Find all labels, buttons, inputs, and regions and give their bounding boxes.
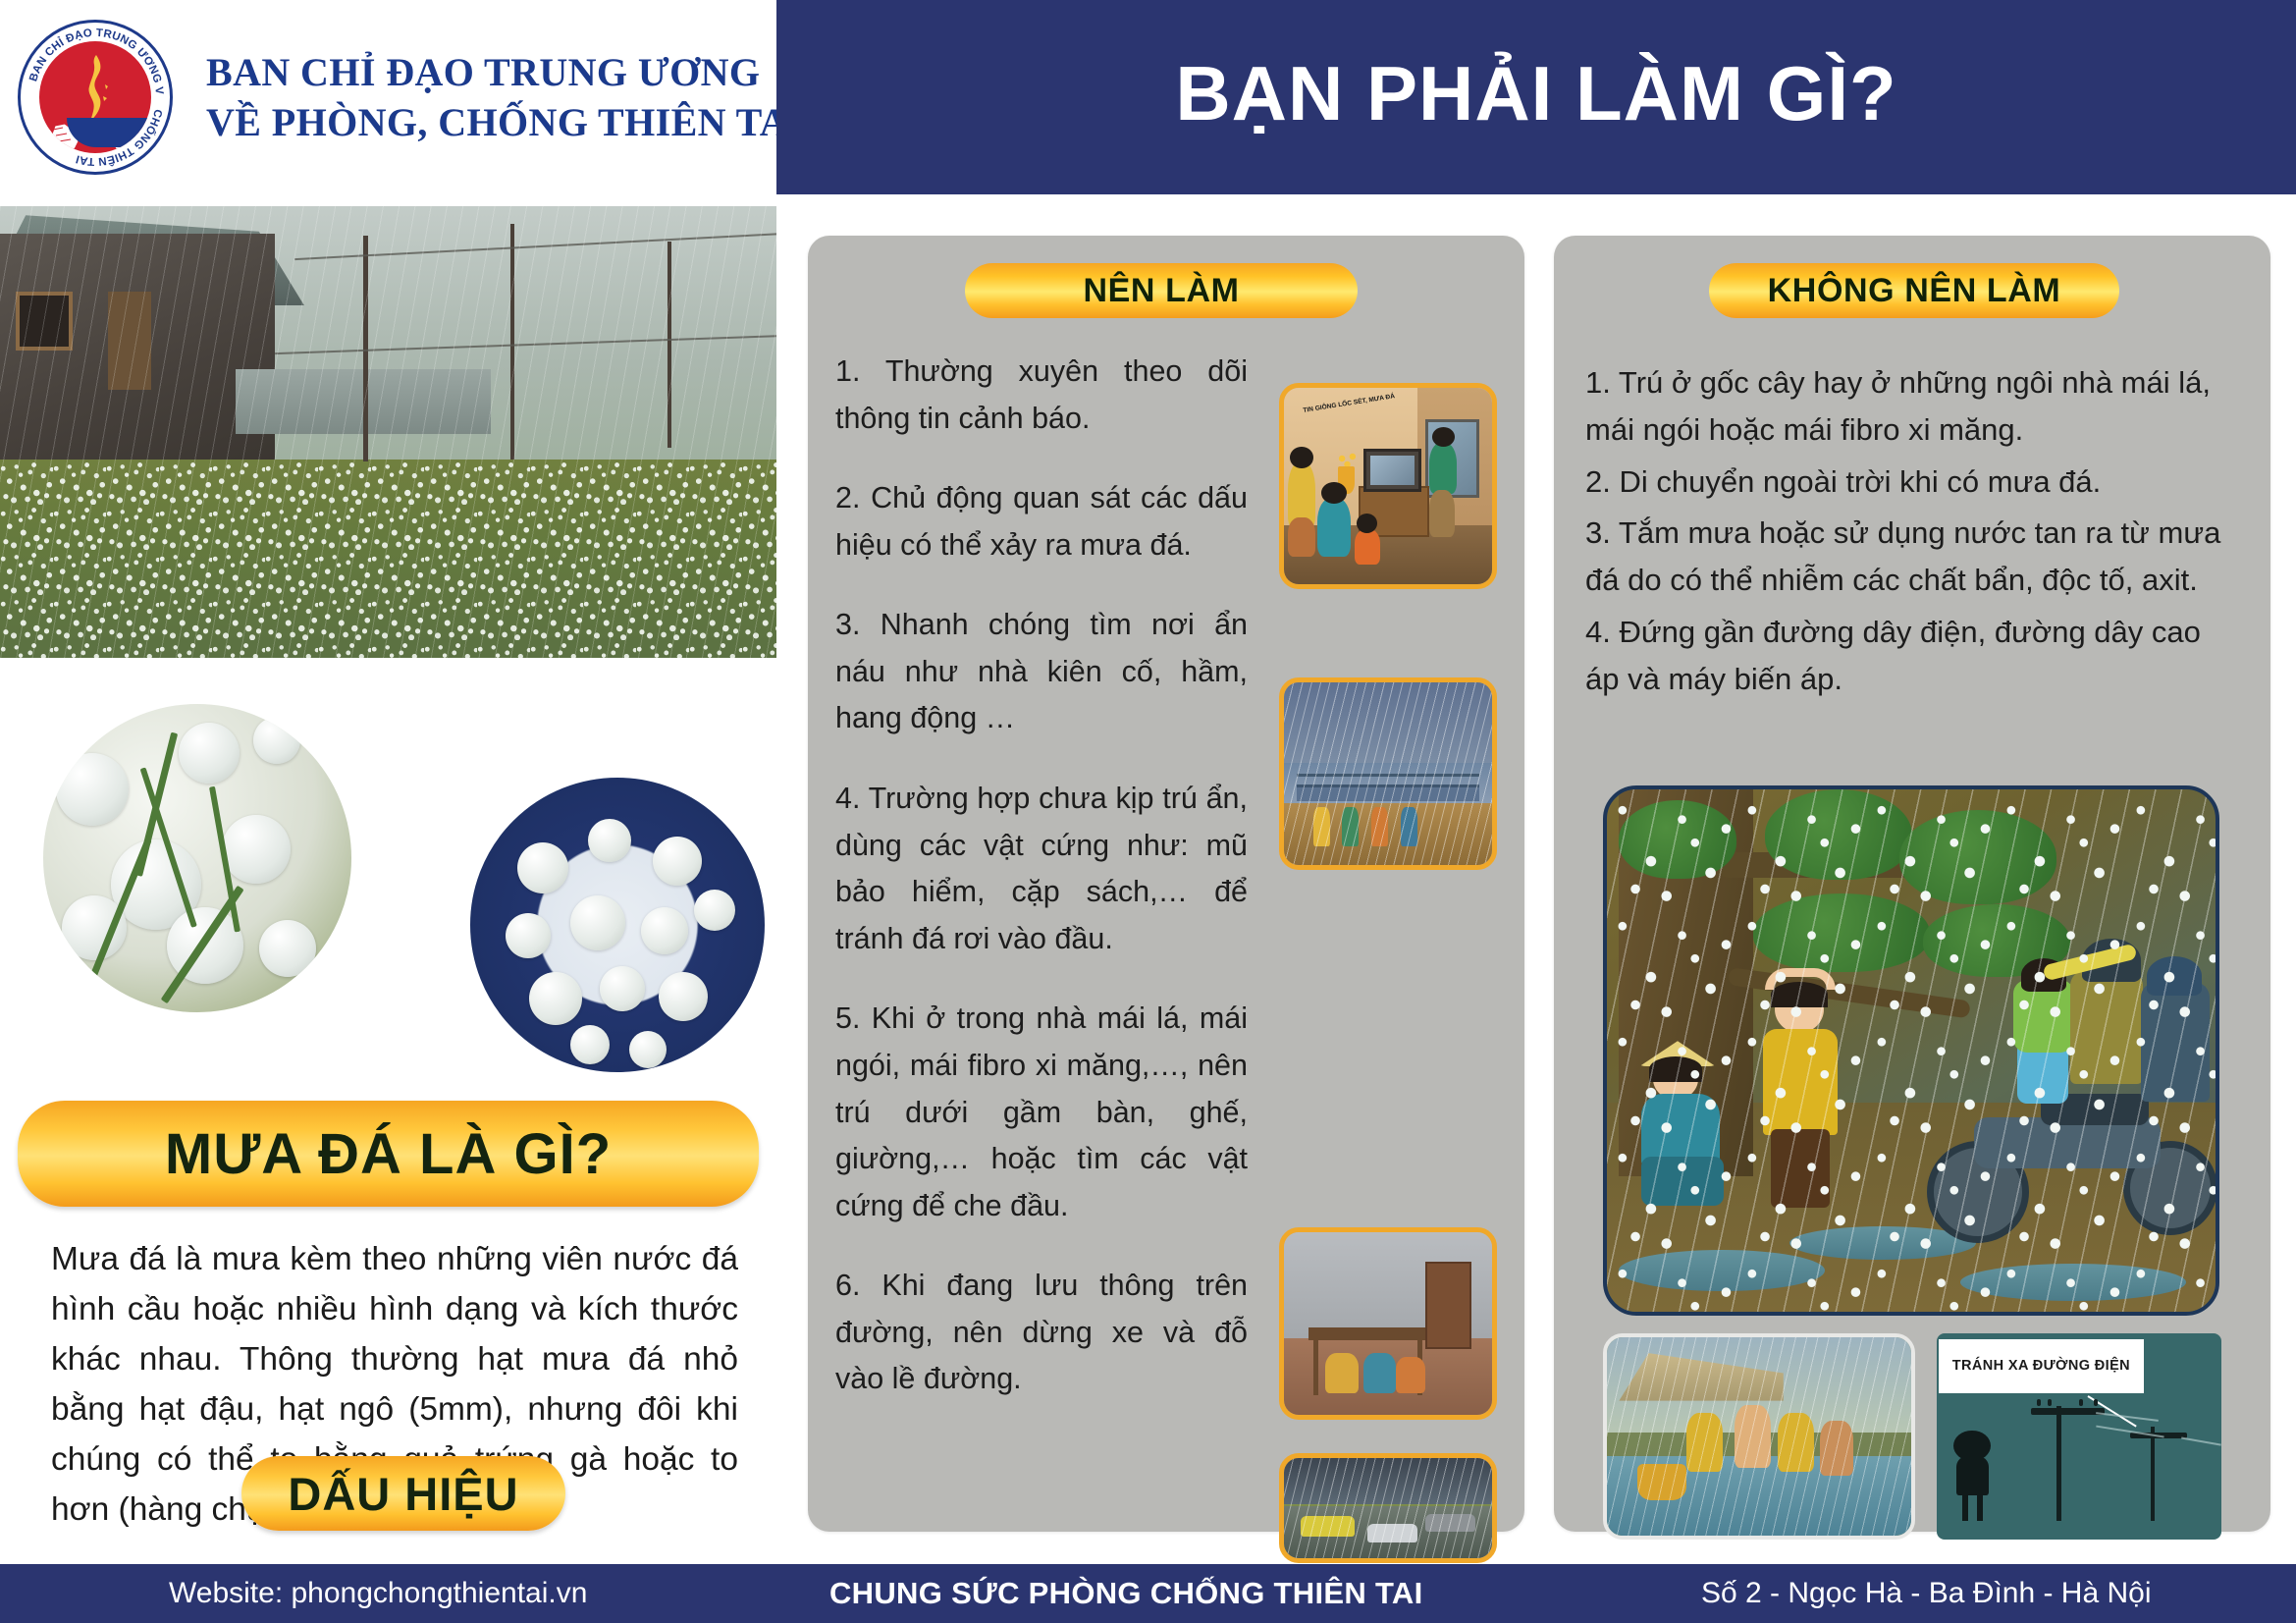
hailstone-cluster <box>43 704 351 1012</box>
scene-door <box>1425 1262 1471 1349</box>
scene-child-orange <box>1355 529 1379 565</box>
scene-child <box>1363 1353 1397 1393</box>
hail-field-photo <box>0 206 776 658</box>
list-item: 3. Tắm mưa hoặc sử dụng nước tan ra từ m… <box>1585 510 2233 605</box>
scene-person-head <box>1953 1431 1991 1461</box>
organization-title-line2: VỀ PHÒNG, CHỐNG THIÊN TAI <box>206 97 804 147</box>
logo-red-disc <box>39 41 151 153</box>
photo-rain-streaks <box>0 206 776 658</box>
scene-rain-streaks <box>1284 682 1492 865</box>
scene-insulator <box>2048 1399 2052 1406</box>
scene-girl-head <box>1321 482 1346 504</box>
avoid-power-lines-sign: TRÁNH XA ĐƯỜNG ĐIỆN <box>1939 1339 2144 1393</box>
scene-tv-screen <box>1370 456 1415 485</box>
list-item: 2. Chủ động quan sát các dấu hiệu có thể… <box>835 475 1248 568</box>
header-branding: BAN CHỈ ĐẠO TRUNG ƯƠNG VỀ PHÒNG CHỐNG TH… <box>0 0 776 194</box>
scene-table-top <box>1308 1327 1425 1340</box>
scene-power-pole <box>2056 1406 2061 1522</box>
what-is-hail-badge: MƯA ĐÁ LÀ GÌ? <box>18 1101 759 1207</box>
scene-rain-streaks <box>1284 1458 1492 1558</box>
list-item: 5. Khi ở trong nhà mái lá, mái ngói, mái… <box>835 996 1248 1229</box>
scene-person-silhouette <box>1953 1431 1991 1521</box>
illustration-children-bathing-in-hail-rain <box>1603 1333 1915 1540</box>
scene-table-leg <box>1313 1340 1318 1395</box>
hailstone-cluster <box>470 778 765 1072</box>
signs-badge: DẤU HIỆU <box>241 1456 565 1531</box>
footer-address: Số 2 - Ngọc Hà - Ba Đình - Hà Nội <box>1701 1577 2152 1610</box>
illustration-people-under-tree-and-motorbike-in-hail <box>1603 785 2219 1316</box>
illustration-children-hiding-under-table <box>1279 1227 1497 1420</box>
right-column: NÊN LÀM 1. Thường xuyên theo dõi thông t… <box>776 194 2296 1564</box>
scene-man-head <box>1432 427 1455 447</box>
page-title: BẠN PHẢI LÀM GÌ? <box>1175 49 1896 146</box>
scene-power-wire <box>2182 1437 2221 1446</box>
list-item: 4. Đứng gần đường dây điện, đường dây ca… <box>1585 609 2233 704</box>
list-item: 1. Thường xuyên theo dõi thông tin cảnh … <box>835 349 1248 442</box>
scene-child <box>1325 1353 1359 1393</box>
scene-television <box>1363 449 1421 492</box>
do-panel-pill: NÊN LÀM <box>965 263 1358 318</box>
footer-slogan: CHUNG SỨC PHÒNG CHỐNG THIÊN TAI <box>829 1576 1423 1611</box>
left-column: MƯA ĐÁ LÀ GÌ? Mưa đá là mưa kèm theo nhữ… <box>0 194 776 1564</box>
scene-woman-head <box>1290 447 1312 468</box>
illustration-people-sheltering-by-bridge <box>1279 677 1497 870</box>
scene-power-pole <box>2151 1427 2155 1522</box>
scene-insulator <box>2079 1399 2083 1406</box>
scene-man-green <box>1429 443 1457 494</box>
dont-panel-pill: KHÔNG NÊN LÀM <box>1709 263 2119 318</box>
scene-rain-streaks <box>1607 1337 1911 1536</box>
scene-child <box>1396 1357 1425 1393</box>
do-list: 1. Thường xuyên theo dõi thông tin cảnh … <box>835 349 1248 1403</box>
organization-title-line1: BAN CHỈ ĐẠO TRUNG ƯƠNG <box>206 47 804 97</box>
footer-website[interactable]: Website: phongchongthientai.vn <box>169 1577 587 1610</box>
list-item: 4. Trường hợp chưa kịp trú ẩn, dùng các … <box>835 776 1248 962</box>
scene-man-legs <box>1429 490 1454 537</box>
do-panel: NÊN LÀM 1. Thường xuyên theo dõi thông t… <box>808 236 1524 1532</box>
list-item: 6. Khi đang lưu thông trên đường, nên dừ… <box>835 1263 1248 1403</box>
scene-person-body <box>1956 1457 1989 1495</box>
illustration-cars-stopped-on-road <box>1279 1453 1497 1563</box>
dont-list: 1. Trú ở gốc cây hay ở những ngôi nhà má… <box>1585 359 2233 708</box>
list-item: 1. Trú ở gốc cây hay ở những ngôi nhà má… <box>1585 359 2233 455</box>
organization-title: BAN CHỈ ĐẠO TRUNG ƯƠNG VỀ PHÒNG, CHỐNG T… <box>206 47 804 147</box>
hailstones-in-basin-photo <box>456 764 778 1086</box>
organization-logo: BAN CHỈ ĐẠO TRUNG ƯƠNG VỀ PHÒNG CHỐNG TH… <box>18 20 173 175</box>
list-item: 2. Di chuyển ngoài trời khi có mưa đá. <box>1585 459 2233 506</box>
scene-insulator <box>2037 1399 2041 1406</box>
scene-falling-hailstones <box>1607 789 2216 1312</box>
header-title-banner: BẠN PHẢI LÀM GÌ? <box>776 0 2296 194</box>
scene-pole-crossarm <box>2031 1408 2105 1415</box>
illustration-family-watching-tv: TIN GIÔNG LỐC SÉT, MƯA ĐÁ <box>1279 383 1497 589</box>
scene-insulator <box>2094 1399 2098 1406</box>
scene-girl-teal <box>1317 498 1351 557</box>
illustration-avoid-power-lines: TRÁNH XA ĐƯỜNG ĐIỆN <box>1937 1333 2221 1540</box>
list-item: 3. Nhanh chóng tìm nơi ẩn náu như nhà ki… <box>835 602 1248 742</box>
hailstones-on-grass-photo <box>29 690 365 1026</box>
dont-panel: KHÔNG NÊN LÀM 1. Trú ở gốc cây hay ở nhữ… <box>1554 236 2270 1532</box>
scene-person-leg <box>1977 1492 1983 1522</box>
scene-woman-legs <box>1288 517 1315 557</box>
poster-header: BAN CHỈ ĐẠO TRUNG ƯƠNG VỀ PHÒNG CHỐNG TH… <box>0 0 2296 194</box>
poster-footer: Website: phongchongthientai.vn CHUNG SỨC… <box>0 1564 2296 1623</box>
poster-root: BAN CHỈ ĐẠO TRUNG ƯƠNG VỀ PHÒNG CHỐNG TH… <box>0 0 2296 1623</box>
scene-person-leg <box>1962 1492 1968 1522</box>
